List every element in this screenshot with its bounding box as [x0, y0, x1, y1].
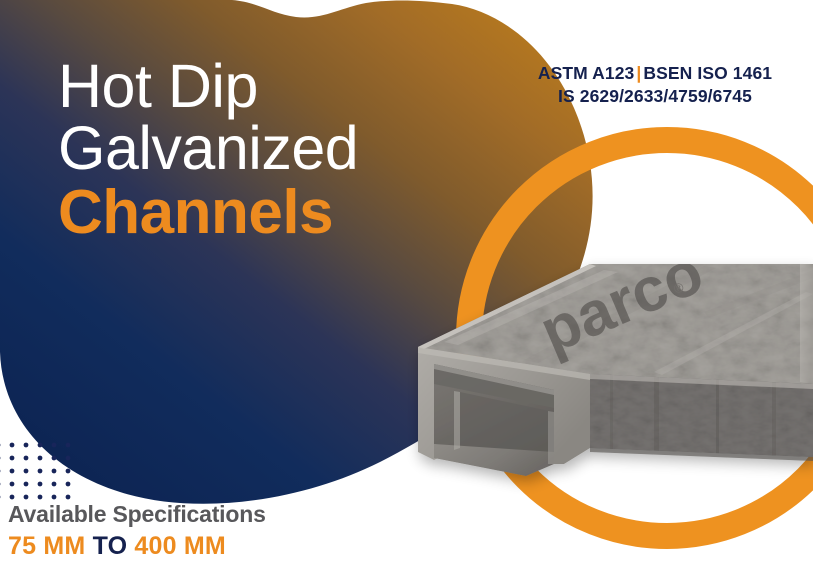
specifications-title: Available Specifications: [8, 500, 266, 529]
standards-block: ASTM A123|BSEN ISO 1461 IS 2629/2633/475…: [505, 62, 805, 108]
headline-line-2: Galvanized: [58, 120, 498, 178]
dot-grid-decoration: [0, 440, 74, 500]
standards-line-1: ASTM A123|BSEN ISO 1461: [505, 62, 805, 85]
range-min: 75 MM: [8, 532, 85, 560]
headline: Hot Dip Galvanized Channels: [58, 58, 498, 243]
standard-bsen-iso: BSEN ISO 1461: [643, 63, 772, 83]
specifications-range: 75 MM TO 400 MM: [8, 531, 266, 561]
marketing-banner: parco ® Hot Dip Galvanized Channels ASTM…: [0, 0, 813, 573]
specifications-block: Available Specifications 75 MM TO 400 MM: [8, 500, 266, 561]
product-image-galvanized-channel: parco ®: [404, 252, 813, 502]
headline-line-3: Channels: [58, 184, 498, 243]
headline-line-1: Hot Dip: [58, 58, 498, 116]
range-max: 400 MM: [134, 532, 226, 560]
range-connector: TO: [93, 532, 128, 560]
standard-astm: ASTM A123: [538, 63, 635, 83]
standards-line-2: IS 2629/2633/4759/6745: [505, 85, 805, 108]
